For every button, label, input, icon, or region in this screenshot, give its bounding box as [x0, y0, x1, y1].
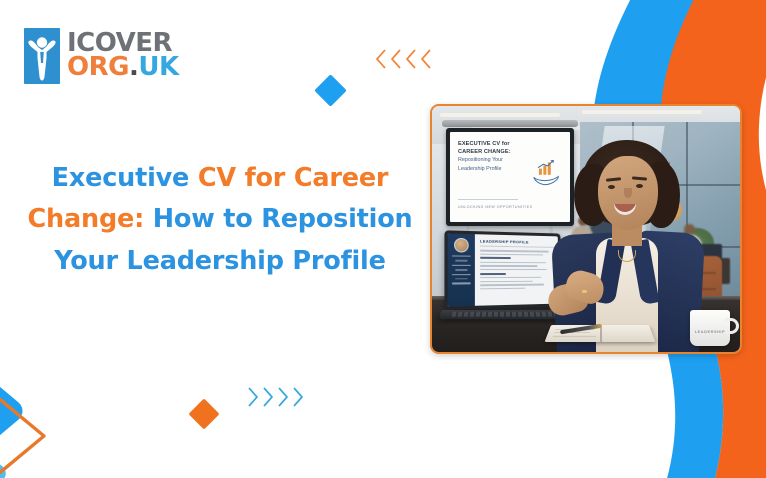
article-banner: ICOVER ORG.UK Executive CV for Career Ch… — [0, 0, 766, 478]
orange-diamond-shape — [186, 396, 222, 432]
slide-title-line-2: CAREER CHANGE: — [458, 149, 536, 157]
logo-text-dot: . — [129, 52, 138, 82]
slide-subtitle-line-1: Repositioning Your — [458, 157, 536, 165]
person-raising-arms-icon — [24, 28, 60, 84]
orange-chevrons-left — [372, 44, 444, 74]
page-title: Executive CV for Career Change: How to R… — [10, 158, 430, 282]
blue-chevrons-right — [244, 382, 316, 412]
slide-subtitle-line-2: Leadership Profile — [458, 166, 536, 174]
laptop-screen: LEADERSHIP PROFILE — [444, 230, 560, 309]
mug-label: LEADERSHIP — [690, 330, 730, 334]
bottom-left-corner-chevrons — [0, 344, 116, 478]
person-presenter — [552, 134, 702, 352]
logo-text-org-uk: ORG.UK — [67, 56, 179, 80]
coffee-mug: LEADERSHIP — [690, 310, 730, 346]
title-segment-blue-1: Executive — [52, 163, 198, 193]
slide-footer: UNLOCKING NEW OPPORTUNITIES — [458, 205, 533, 209]
hero-photo: EXECUTIVE CV for CAREER CHANGE: Repositi… — [430, 104, 742, 354]
site-logo[interactable]: ICOVER ORG.UK — [24, 28, 179, 84]
blue-diamond-shape — [313, 73, 349, 109]
logo-text-uk: UK — [138, 52, 178, 82]
cv-avatar — [454, 238, 469, 253]
cv-document-heading: LEADERSHIP PROFILE — [480, 238, 554, 245]
logo-text-org: ORG — [67, 52, 129, 82]
slide-title-line-1: EXECUTIVE CV for — [458, 141, 536, 149]
